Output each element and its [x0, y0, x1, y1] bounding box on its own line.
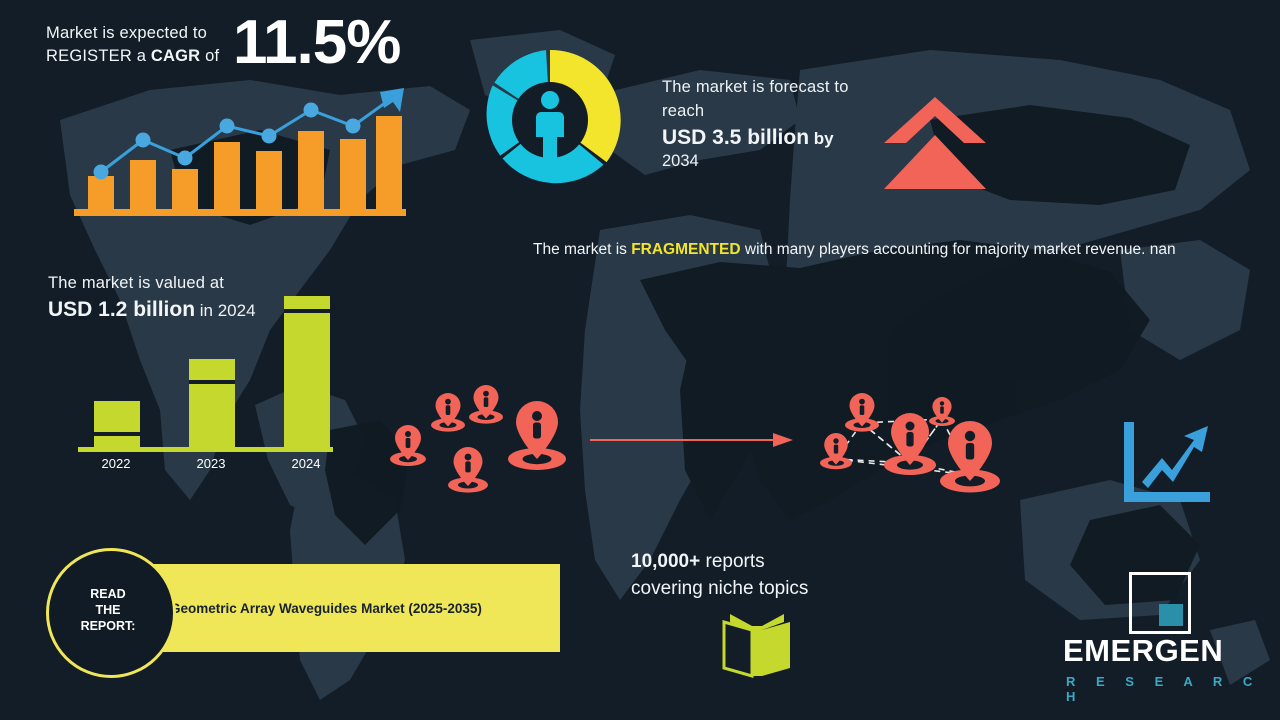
double-up-arrow-icon — [880, 95, 990, 193]
map-pin-cluster-right — [800, 385, 1015, 505]
growth-chart-icon — [1118, 420, 1214, 506]
bar-tick-2024: 2024 — [292, 456, 321, 471]
reports-statement: 10,000+ reports covering niche topics — [631, 548, 808, 602]
forecast-value: USD 3.5 billion — [662, 126, 809, 149]
cagr-growth-bar-chart — [70, 80, 410, 220]
forecast-caption: The market is forecast to reach — [662, 75, 849, 123]
cagr-value: 11.5% — [233, 12, 400, 74]
forecast-line-1: The market is forecast to — [662, 78, 849, 96]
cagr-line-2-pre: REGISTER a — [46, 47, 151, 65]
bar-tick-2023: 2023 — [197, 456, 226, 471]
reports-count: 10,000+ — [631, 551, 700, 572]
market-share-donut-chart — [470, 40, 630, 200]
cagr-line-1: Market is expected to — [46, 24, 207, 42]
cagr-line-2-post: of — [200, 47, 219, 65]
forecast-value-row: USD 3.5 billion by — [662, 126, 834, 151]
logo-subtitle: R E S E A R C H — [1066, 674, 1280, 704]
bar-tick-2022: 2022 — [102, 456, 131, 471]
fragmentation-highlight: FRAGMENTED — [631, 241, 740, 258]
badge-line-1: READ — [90, 586, 125, 602]
right-arrow-icon — [590, 430, 795, 450]
logo-corner-accent-icon — [1159, 604, 1183, 626]
report-title[interactable]: Geometric Array Waveguides Market (2025-… — [170, 601, 482, 616]
logo-wordmark: EMERGEN — [1063, 633, 1223, 669]
trend-arrow-icon — [380, 88, 404, 112]
valuation-bar-chart: 2022 2023 2024 — [78, 296, 338, 476]
forecast-line-2: reach — [662, 102, 704, 120]
fragmentation-pre: The market is — [533, 241, 631, 258]
fragmentation-statement: The market is FRAGMENTED with many playe… — [533, 238, 1223, 262]
forecast-year: 2034 — [662, 152, 699, 171]
forecast-by: by — [809, 129, 834, 148]
cagr-caption: Market is expected to REGISTER a CAGR of — [46, 22, 219, 68]
read-the-report-badge-text: READ THE REPORT: — [46, 548, 170, 672]
reports-line-2: covering niche topics — [631, 578, 808, 599]
infographic-canvas: Market is expected to REGISTER a CAGR of… — [0, 0, 1280, 720]
badge-line-2: THE — [96, 602, 121, 618]
valuation-caption: The market is valued at — [48, 274, 224, 293]
reports-line-1-rest: reports — [700, 551, 764, 572]
badge-line-3: REPORT: — [81, 618, 136, 634]
fragmentation-post: with many players accounting for majorit… — [741, 241, 1176, 258]
map-pin-cluster-left — [380, 385, 580, 500]
cagr-line-2-bold: CAGR — [151, 47, 200, 65]
open-book-icon — [722, 612, 792, 678]
